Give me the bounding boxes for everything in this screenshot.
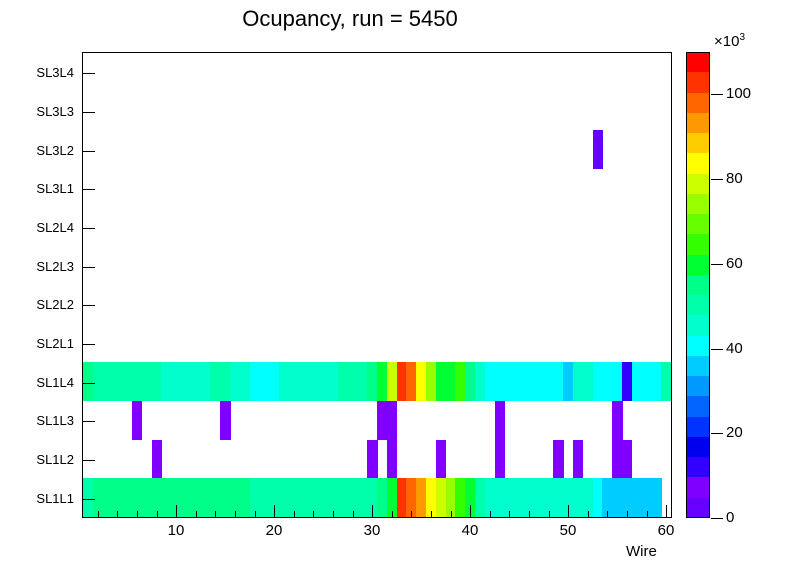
heatmap-cell (651, 478, 661, 517)
color-palette-bar (686, 52, 710, 518)
y-axis-label: SL2L3 (4, 259, 74, 274)
z-exponent-base: ×10 (714, 33, 739, 50)
x-axis-minor-tick (117, 511, 118, 518)
x-axis-minor-tick (588, 511, 589, 518)
y-axis-tick (82, 267, 95, 268)
heatmap-row (83, 440, 671, 479)
x-axis-label: 30 (352, 522, 392, 539)
x-axis-minor-tick (353, 511, 354, 518)
heatmap-cell (612, 401, 622, 440)
palette-band (686, 52, 710, 73)
y-axis-tick (82, 305, 95, 306)
palette-band (686, 173, 710, 194)
x-axis-minor-tick (333, 511, 334, 518)
palette-band (686, 477, 710, 498)
z-axis-tick (711, 433, 723, 434)
z-axis-tick (711, 179, 723, 180)
x-axis-minor-tick (451, 511, 452, 518)
x-axis-minor-tick (627, 511, 628, 518)
palette-band (686, 436, 710, 457)
z-axis-tick (711, 349, 723, 350)
root-canvas: Ocupancy, run = 5450 SL1L1SL1L2SL1L3SL1L… (0, 0, 796, 572)
heatmap-row (83, 208, 671, 247)
y-axis-label: SL3L4 (4, 65, 74, 80)
y-axis-tick (82, 344, 95, 345)
heatmap-row (83, 285, 671, 324)
y-axis-tick (82, 228, 95, 229)
y-axis-tick (82, 460, 95, 461)
heatmap-cell (622, 440, 632, 479)
palette-band (686, 214, 710, 235)
heatmap-row (83, 362, 671, 401)
heatmap-cell (495, 401, 505, 440)
palette-band (686, 92, 710, 113)
heatmap-row (83, 169, 671, 208)
palette-band (686, 497, 710, 518)
x-axis-label: 10 (156, 522, 196, 539)
y-axis-tick (82, 112, 95, 113)
x-axis-minor-tick (294, 511, 295, 518)
z-axis-tick (711, 264, 723, 265)
plot-frame (82, 52, 672, 518)
z-axis-label: 80 (726, 170, 743, 187)
z-axis-tick (711, 518, 723, 519)
x-axis-minor-tick (529, 511, 530, 518)
heatmap-cell (152, 440, 162, 479)
palette-band (686, 274, 710, 295)
x-axis-major-tick (666, 505, 667, 518)
heatmap-cell (220, 401, 230, 440)
heatmap-row (83, 92, 671, 131)
y-axis-label: SL1L1 (4, 491, 74, 506)
y-axis-label: SL1L4 (4, 375, 74, 390)
heatmap-cell (495, 440, 505, 479)
y-axis-tick (82, 189, 95, 190)
y-axis-label: SL2L1 (4, 336, 74, 351)
heatmap-row (83, 246, 671, 285)
z-axis-label: 0 (726, 509, 734, 526)
x-axis-minor-tick (196, 511, 197, 518)
heatmap-cell (387, 440, 397, 479)
palette-band (686, 416, 710, 437)
palette-band (686, 295, 710, 316)
z-axis-label: 20 (726, 424, 743, 441)
y-axis-label: SL3L1 (4, 181, 74, 196)
heatmap-cell (593, 130, 603, 169)
heatmap-cell (367, 440, 377, 479)
x-axis-major-tick (274, 505, 275, 518)
palette-band (686, 315, 710, 336)
x-axis-minor-tick (647, 511, 648, 518)
palette-band (686, 376, 710, 397)
palette-band (686, 112, 710, 133)
x-axis-label: 60 (646, 522, 686, 539)
x-axis-label: 20 (254, 522, 294, 539)
page-title: Ocupancy, run = 5450 (0, 6, 700, 32)
x-axis-minor-tick (255, 511, 256, 518)
y-axis-label: SL2L2 (4, 297, 74, 312)
x-axis-minor-tick (490, 511, 491, 518)
y-axis-tick (82, 421, 95, 422)
x-axis-title: Wire (626, 543, 657, 560)
heatmap-row (83, 130, 671, 169)
heatmap-row (83, 324, 671, 363)
palette-band (686, 234, 710, 255)
x-axis-minor-tick (607, 511, 608, 518)
x-axis-minor-tick (98, 511, 99, 518)
x-axis-minor-tick (215, 511, 216, 518)
heatmap-cell (436, 440, 446, 479)
heatmap-cell (661, 362, 671, 401)
x-axis-minor-tick (313, 511, 314, 518)
z-axis-label: 100 (726, 85, 751, 102)
x-axis-minor-tick (411, 511, 412, 518)
heatmap-row (83, 401, 671, 440)
y-axis-label: SL3L2 (4, 143, 74, 158)
palette-band (686, 72, 710, 93)
z-axis-exponent: ×103 (714, 32, 745, 50)
x-axis-minor-tick (509, 511, 510, 518)
palette-band (686, 396, 710, 417)
y-axis-label: SL1L2 (4, 452, 74, 467)
palette-band (686, 153, 710, 174)
heatmap-cell (387, 401, 397, 440)
x-axis-major-tick (372, 505, 373, 518)
x-axis-major-tick (568, 505, 569, 518)
x-axis-major-tick (176, 505, 177, 518)
palette-band (686, 355, 710, 376)
y-axis-tick (82, 73, 95, 74)
y-axis-tick (82, 499, 95, 500)
palette-band (686, 254, 710, 275)
x-axis-major-tick (470, 505, 471, 518)
palette-band (686, 335, 710, 356)
heatmap-cell (573, 440, 583, 479)
z-axis-label: 60 (726, 255, 743, 272)
z-axis-tick (711, 94, 723, 95)
heatmap-row (83, 53, 671, 92)
x-axis-label: 40 (450, 522, 490, 539)
x-axis-label: 50 (548, 522, 588, 539)
y-axis-tick (82, 151, 95, 152)
x-axis-minor-tick (431, 511, 432, 518)
z-exponent-power: 3 (739, 32, 745, 43)
x-axis-minor-tick (137, 511, 138, 518)
heatmap-row (83, 478, 671, 517)
palette-band (686, 193, 710, 214)
y-axis-label: SL3L3 (4, 104, 74, 119)
x-axis-minor-tick (157, 511, 158, 518)
palette-band (686, 133, 710, 154)
heatmap-cell (132, 401, 142, 440)
heatmap-cell (553, 440, 563, 479)
x-axis-minor-tick (549, 511, 550, 518)
z-axis-label: 40 (726, 340, 743, 357)
palette-band (686, 457, 710, 478)
y-axis-label: SL1L3 (4, 413, 74, 428)
y-axis-tick (82, 383, 95, 384)
x-axis-minor-tick (392, 511, 393, 518)
y-axis-label: SL2L4 (4, 220, 74, 235)
x-axis-minor-tick (235, 511, 236, 518)
